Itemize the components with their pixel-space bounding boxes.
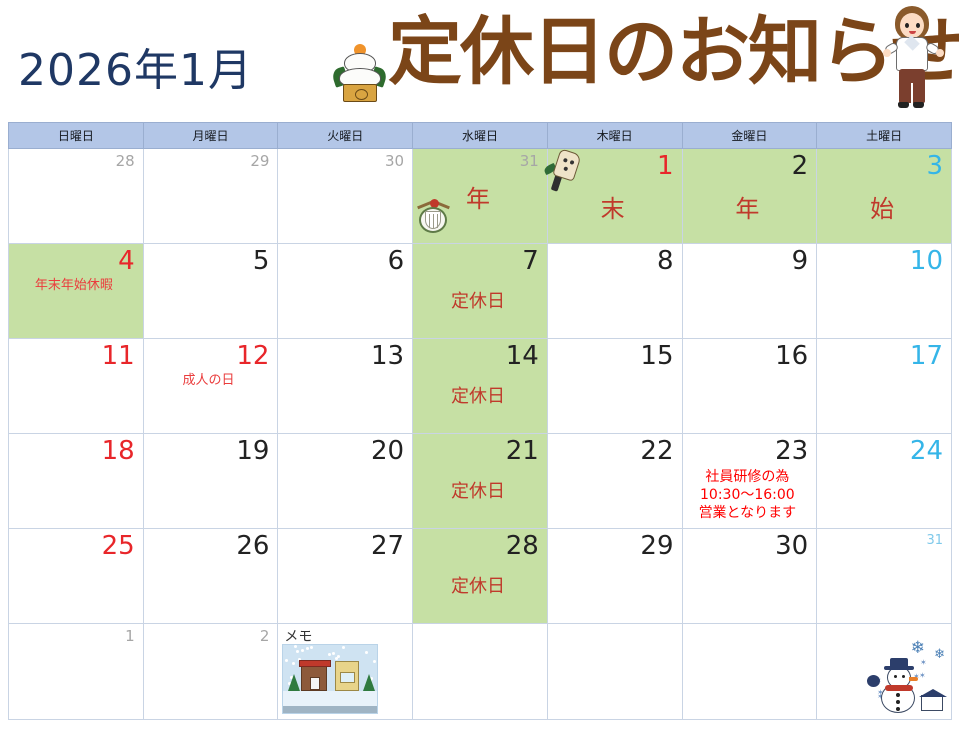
day-number: 12 [148, 341, 270, 371]
day-note: 社員研修の為10:30〜16:00営業となります [687, 468, 809, 522]
day-number: 8 [552, 246, 674, 276]
day-cell-8[interactable]: 8 [547, 244, 682, 339]
day-number: 27 [282, 531, 404, 561]
day-number: 4 [13, 246, 135, 276]
day-number: 6 [282, 246, 404, 276]
day-number: 17 [821, 341, 943, 371]
new-year-wreath-icon [417, 197, 451, 235]
day-cell-24[interactable]: 24 [817, 434, 952, 529]
day-number: 28 [417, 531, 539, 561]
day-cell-empty[interactable]: ❄❄✶✶✶✶✶✶✶✶✶✶✶✶ [817, 624, 952, 720]
day-cell-empty[interactable] [682, 624, 817, 720]
day-cell-17[interactable]: 17 [817, 339, 952, 434]
day-number: 10 [821, 246, 943, 276]
day-note: 成人の日 [148, 373, 270, 389]
day-cell-30[interactable]: 30 [278, 149, 413, 244]
day-note: 定休日 [417, 290, 539, 313]
day-cell-empty[interactable] [547, 624, 682, 720]
day-cell-20[interactable]: 20 [278, 434, 413, 529]
day-cell-31[interactable]: 31年 [413, 149, 548, 244]
notice-title: 定休日のお知らせ [388, 2, 959, 102]
day-cell-11[interactable]: 11 [9, 339, 144, 434]
day-number: 30 [282, 151, 404, 171]
day-cell-16[interactable]: 16 [682, 339, 817, 434]
year-end-holiday-char: 年 [687, 195, 809, 223]
day-number: 11 [13, 341, 135, 371]
day-cell-2[interactable]: 2 [143, 624, 278, 720]
office-lady-icon [883, 4, 945, 116]
weekday-header-thu: 木曜日 [547, 123, 682, 149]
day-number: 31 [821, 531, 943, 551]
snowy-town-icon [282, 644, 378, 714]
calendar-week-row: 18192021定休日2223社員研修の為10:30〜16:00営業となります2… [9, 434, 952, 529]
day-cell-6[interactable]: 6 [278, 244, 413, 339]
day-number: 15 [552, 341, 674, 371]
day-cell-2[interactable]: 2年 [682, 149, 817, 244]
weekday-header-row: 日曜日 月曜日 火曜日 水曜日 木曜日 金曜日 土曜日 [9, 123, 952, 149]
day-note: 定休日 [417, 575, 539, 598]
day-number: 7 [417, 246, 539, 276]
day-cell-26[interactable]: 26 [143, 529, 278, 624]
weekday-header-tue: 火曜日 [278, 123, 413, 149]
day-number: 14 [417, 341, 539, 371]
day-cell-30[interactable]: 30 [682, 529, 817, 624]
weekday-header-sun: 日曜日 [9, 123, 144, 149]
day-number: 28 [13, 151, 135, 171]
day-number: 16 [687, 341, 809, 371]
day-cell-14[interactable]: 14定休日 [413, 339, 548, 434]
weekday-header-fri: 金曜日 [682, 123, 817, 149]
day-number: 18 [13, 436, 135, 466]
day-number: 5 [148, 246, 270, 276]
day-note: 定休日 [417, 385, 539, 408]
day-cell-13[interactable]: 13 [278, 339, 413, 434]
day-number: 23 [687, 436, 809, 466]
day-cell-1[interactable]: 1末 [547, 149, 682, 244]
memo-label: メモ [284, 626, 312, 646]
day-number: 19 [148, 436, 270, 466]
day-cell-18[interactable]: 18 [9, 434, 144, 529]
day-cell-15[interactable]: 15 [547, 339, 682, 434]
day-number: 24 [821, 436, 943, 466]
day-number: 31 [417, 151, 539, 171]
page-title: 2026年1月 [18, 34, 253, 98]
day-number: 25 [13, 531, 135, 561]
calendar-page: 2026年1月 定休日のお知らせ [0, 0, 959, 733]
calendar-table: 日曜日 月曜日 火曜日 水曜日 木曜日 金曜日 土曜日 28293031年1末2… [8, 122, 952, 720]
calendar-week-row: 25262728定休日293031 [9, 529, 952, 624]
day-number: 26 [148, 531, 270, 561]
memo-cell[interactable]: メモ [278, 624, 413, 720]
calendar-week-row: 28293031年1末2年3始 [9, 149, 952, 244]
day-cell-9[interactable]: 9 [682, 244, 817, 339]
snowman-icon: ❄❄✶✶✶✶✶✶✶✶✶✶✶✶ [851, 639, 947, 717]
hagoita-icon [544, 151, 584, 193]
day-number: 2 [687, 151, 809, 181]
day-cell-3[interactable]: 3始 [817, 149, 952, 244]
calendar-week-row: 12メモ❄❄✶✶✶✶✶✶✶✶✶✶✶✶ [9, 624, 952, 720]
weekday-header-wed: 水曜日 [413, 123, 548, 149]
kagami-mochi-icon [334, 44, 386, 104]
day-number: 13 [282, 341, 404, 371]
year-end-holiday-char: 末 [552, 195, 674, 223]
day-cell-31[interactable]: 31 [817, 529, 952, 624]
day-note: 定休日 [417, 480, 539, 503]
day-cell-5[interactable]: 5 [143, 244, 278, 339]
calendar-week-row: 1112成人の日1314定休日151617 [9, 339, 952, 434]
day-cell-7[interactable]: 7定休日 [413, 244, 548, 339]
day-cell-22[interactable]: 22 [547, 434, 682, 529]
day-cell-19[interactable]: 19 [143, 434, 278, 529]
page-header: 2026年1月 定休日のお知らせ [0, 0, 959, 122]
calendar-body: 28293031年1末2年3始4年末年始休暇567定休日89101112成人の日… [9, 149, 952, 720]
day-cell-28[interactable]: 28定休日 [413, 529, 548, 624]
day-cell-25[interactable]: 25 [9, 529, 144, 624]
day-number: 1 [13, 626, 135, 646]
day-number: 30 [687, 531, 809, 561]
day-cell-28[interactable]: 28 [9, 149, 144, 244]
day-cell-4[interactable]: 4年末年始休暇 [9, 244, 144, 339]
day-cell-empty[interactable] [413, 624, 548, 720]
day-number: 21 [417, 436, 539, 466]
day-cell-29[interactable]: 29 [547, 529, 682, 624]
day-cell-27[interactable]: 27 [278, 529, 413, 624]
day-cell-10[interactable]: 10 [817, 244, 952, 339]
day-number: 2 [148, 626, 270, 646]
day-cell-1[interactable]: 1 [9, 624, 144, 720]
year-end-holiday-char: 始 [821, 195, 943, 223]
day-number: 9 [687, 246, 809, 276]
day-number: 29 [552, 531, 674, 561]
day-cell-23[interactable]: 23社員研修の為10:30〜16:00営業となります [682, 434, 817, 529]
day-number: 20 [282, 436, 404, 466]
day-number: 22 [552, 436, 674, 466]
calendar-week-row: 4年末年始休暇567定休日8910 [9, 244, 952, 339]
day-number: 29 [148, 151, 270, 171]
day-number: 3 [821, 151, 943, 181]
day-cell-12[interactable]: 12成人の日 [143, 339, 278, 434]
day-cell-21[interactable]: 21定休日 [413, 434, 548, 529]
weekday-header-sat: 土曜日 [817, 123, 952, 149]
day-cell-29[interactable]: 29 [143, 149, 278, 244]
weekday-header-mon: 月曜日 [143, 123, 278, 149]
day-note: 年末年始休暇 [13, 278, 135, 294]
